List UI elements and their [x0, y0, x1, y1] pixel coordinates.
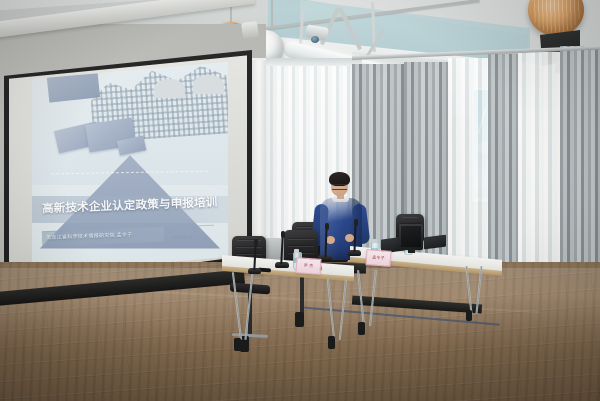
- monitor-stand: [408, 248, 415, 253]
- slide-date: 2020.11.12: [173, 234, 193, 239]
- table-foot: [234, 338, 241, 351]
- pendant-cord: [271, 0, 273, 30]
- chair-gas-post: [300, 276, 304, 316]
- projector-lens-icon: [311, 36, 319, 43]
- name-card: 孟令子: [365, 249, 391, 267]
- microphone-head-icon: [254, 239, 258, 246]
- name-card-label: 孟令子: [372, 255, 385, 262]
- bottle-cap: [372, 239, 377, 243]
- microphone-head-icon: [354, 219, 358, 226]
- name-card-label: 尹 杰: [303, 263, 313, 270]
- bottle-cap: [294, 249, 299, 253]
- chair-foot: [295, 312, 304, 327]
- presenter-glasses-icon: [332, 184, 347, 190]
- monitor-icon: [399, 224, 423, 250]
- table-foot: [466, 310, 472, 321]
- microphone-head-icon: [281, 231, 285, 238]
- table-foot: [328, 336, 335, 349]
- slide-arc-shape: [193, 75, 224, 94]
- projected-slide: 高新技术企业认定政策与申报培训 黑龙江省科学技术情报研究院 孟令子 2020.1…: [32, 62, 228, 274]
- conference-room-photo: 高新技术企业认定政策与申报培训 黑龙江省科学技术情报研究院 孟令子 2020.1…: [0, 0, 600, 401]
- slide-arc-shape: [154, 79, 185, 98]
- presenter-right-hand: [345, 234, 354, 242]
- table-foot: [358, 322, 365, 335]
- microphone-head-icon: [325, 223, 329, 230]
- name-card: 尹 杰: [295, 257, 321, 275]
- monitor-screen: [401, 226, 421, 247]
- projection-screen-housing-end: [241, 21, 259, 39]
- presenter-left-hand: [326, 236, 335, 244]
- curtain-header-rail: [266, 58, 362, 66]
